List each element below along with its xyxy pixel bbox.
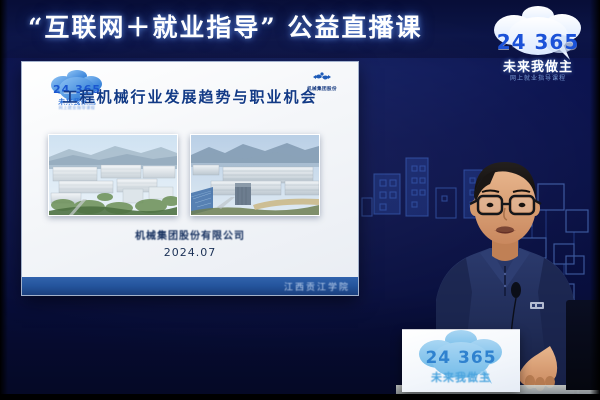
right-edge-shade	[590, 0, 600, 400]
livestream-screenshot: “互联网＋就业指导” 公益直播课 24 365 未来我做主 网上就业指导课程	[0, 0, 600, 400]
corporate-mark-icon	[312, 70, 332, 85]
bottom-edge-shade	[0, 394, 600, 400]
page-title: “互联网＋就业指导” 公益直播课	[28, 13, 422, 43]
brand-logo-subtagline: 网上就业指导课程	[484, 73, 592, 82]
slide-date: 2024.07	[22, 246, 358, 259]
polo-chest-logo	[530, 302, 544, 309]
podium-sign: 24 365 未来我做主	[402, 330, 520, 392]
slide-company-name: 机械集团股份有限公司	[22, 227, 358, 242]
factory-aerial-photo-2	[190, 134, 320, 216]
podium-brand-logo: 24 365 未来我做主	[410, 330, 512, 392]
lapel-microphone	[511, 282, 521, 298]
podium-logo-number: 24 365	[410, 348, 512, 368]
left-edge-shade	[0, 0, 8, 400]
brand-logo-header: 24 365 未来我做主 网上就业指导课程	[484, 4, 592, 90]
factory-aerial-photo-1	[48, 134, 178, 216]
brand-logo-number: 24 365	[484, 30, 592, 54]
slide-title: 工程机械行业发展趋势与职业机会	[22, 86, 358, 107]
podium-logo-tagline: 未来我做主	[410, 369, 512, 385]
slide-watermark: 江西贡江学院	[284, 280, 350, 293]
presentation-slide: 24 365 未来我做主 网上就业指导课程 机械集团股份 工程机械行业发展趋势与…	[22, 62, 358, 295]
